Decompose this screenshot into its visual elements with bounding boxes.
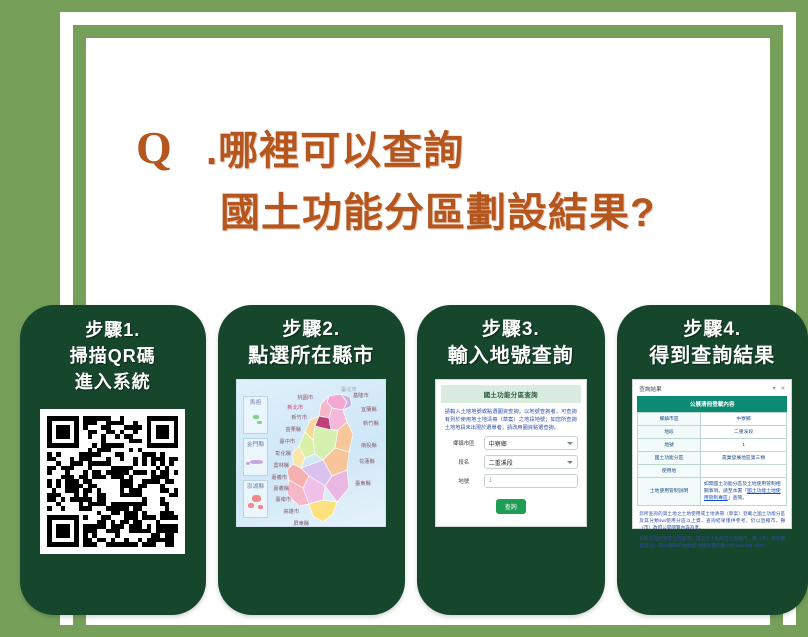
step-3-sub-1: 輸入地號查詢 (448, 343, 574, 369)
step-4-title: 步驟4. 得到查詢結果 (649, 317, 775, 369)
table-row: 國土功能分區 農業發展地區第三類 (638, 452, 787, 465)
form-description: 請輸入土地地號或點選圖資查詢。以地號查詢者，可查詢有列於使用地土地清冊（草案）之… (441, 403, 581, 436)
row-value: 農業發展地區第三類 (700, 452, 786, 465)
table-row-detail: 土地使用管制說明 如需國土功能分區及土地使用管制相關事項，請至本署「國土功能土地… (638, 478, 787, 506)
result-panel[interactable]: 查詢結果 ▾ ✕ 公展清冊登載內容 鄉鎮市區 中寮鄉 地段 二重溪段 (632, 379, 792, 529)
step-3-title: 步驟3. 輸入地號查詢 (448, 317, 574, 369)
step-3-title-line: 步驟3. (448, 317, 574, 343)
step-4-title-line: 步驟4. (649, 317, 775, 343)
step-card-1[interactable]: 步驟1. 掃描QR碼 進入系統 (20, 305, 206, 615)
qr-code[interactable] (40, 409, 185, 554)
result-panel-bar: 查詢結果 ▾ ✕ (637, 384, 787, 396)
map-label-taipei: 臺北市 (341, 385, 357, 393)
select-township-value: 中寮鄉 (489, 439, 507, 448)
map-label-taichung: 臺中市 (280, 437, 296, 445)
step-1-title-line: 步驟1. (70, 317, 156, 343)
map-label-chiayi-city: 嘉義市 (272, 473, 288, 481)
form-row-section: 段名 二重溪段 (444, 455, 578, 469)
result-table: 鄉鎮市區 中寮鄉 地段 二重溪段 地號 1 國土功能分區 農業發展地區第三類 (637, 412, 787, 506)
query-form[interactable]: 國土功能分區查詢 請輸入土地地號或點選圖資查詢。以地號查詢者，可查詢有列於使用地… (435, 379, 587, 527)
row-value: 1 (700, 439, 786, 452)
chevron-down-icon[interactable]: ▾ (773, 386, 776, 392)
map-label-pingtung: 屏東縣 (294, 519, 310, 527)
search-button[interactable]: 查詢 (496, 499, 526, 514)
step-1-sub-2: 進入系統 (70, 369, 156, 395)
chevron-down-icon (567, 442, 573, 445)
row-key: 國土功能分區 (638, 452, 701, 465)
table-row: 鄉鎮市區 中寮鄉 (638, 413, 787, 426)
result-note-1: 您所查詢的第土地之土地使用或土地清冊（草案）登載之國土功能分區及其分類świ使用… (639, 510, 785, 531)
step-1-sub-1: 掃描QR碼 (70, 343, 156, 369)
map-label-chiayi-county: 嘉義縣 (274, 484, 290, 492)
select-section[interactable]: 二重溪段 (484, 455, 578, 469)
label-section: 段名 (444, 458, 484, 466)
step-4-sub-1: 得到查詢結果 (649, 343, 775, 369)
form-row-township: 鄉鎮市區 中寮鄉 (444, 436, 578, 450)
taiwan-map[interactable]: 馬祖 金門縣 澎湖縣 (236, 379, 386, 527)
row-value: 中寮鄉 (700, 413, 786, 426)
step-cards: 步驟1. 掃描QR碼 進入系統 步驟2. 點選所在縣市 馬祖 金門縣 (0, 305, 808, 615)
row-key: 使用地 (638, 465, 701, 478)
step-2-title: 步驟2. 點選所在縣市 (248, 317, 374, 369)
map-label-tainan: 臺南市 (276, 495, 292, 503)
step-2-title-line: 步驟2. (248, 317, 374, 343)
step-card-3[interactable]: 步驟3. 輸入地號查詢 國土功能分區查詢 請輸入土地地號或點選圖資查詢。以地號查… (417, 305, 605, 615)
input-lot-number[interactable]: 1 (484, 474, 578, 488)
map-label-nantou: 南投縣 (361, 441, 377, 449)
row-value (700, 465, 786, 478)
detail-text-after: 」查閱。 (728, 496, 747, 501)
map-label-taitung: 臺東縣 (355, 479, 371, 487)
form-row-lot-number: 地號 1 (444, 474, 578, 488)
step-1-title: 步驟1. 掃描QR碼 進入系統 (70, 317, 156, 395)
select-township[interactable]: 中寮鄉 (484, 436, 578, 450)
label-township: 鄉鎮市區 (444, 439, 484, 447)
map-label-hsinchu-county: 新竹縣 (363, 419, 379, 427)
row-key: 地段 (638, 426, 701, 439)
map-label-yilan: 宜蘭縣 (361, 405, 377, 413)
result-notes: 您所查詢的第土地之土地使用或土地清冊（草案）登載之國土功能分區及其分類świ使用… (637, 506, 787, 553)
form-header: 國土功能分區查詢 (441, 385, 581, 403)
label-lot-number: 地號 (444, 477, 484, 485)
row-value: 二重溪段 (700, 426, 786, 439)
question-line-1: .哪裡可以查詢 (220, 120, 655, 182)
result-panel-title: 查詢結果 (639, 385, 661, 393)
map-label-xinbei: 新北市 (288, 403, 304, 411)
question-line-2: 國土功能分區劃設結果? (220, 182, 655, 244)
select-section-value: 二重溪段 (489, 458, 513, 467)
step-card-2[interactable]: 步驟2. 點選所在縣市 馬祖 金門縣 澎湖縣 (218, 305, 406, 615)
input-lot-number-value: 1 (489, 478, 492, 484)
map-label-taoyuan: 桃園市 (298, 393, 314, 401)
table-row: 地段 二重溪段 (638, 426, 787, 439)
row-key: 鄉鎮市區 (638, 413, 701, 426)
question-heading: Q .哪裡可以查詢 國土功能分區劃設結果? (0, 120, 808, 244)
map-label-kaohsiung: 高雄市 (284, 507, 300, 515)
row-value-detail: 如需國土功能分區及土地使用管制相關事項，請至本署「國土功能土地使用管制專區」查閱… (700, 478, 786, 506)
close-icon[interactable]: ✕ (781, 386, 786, 392)
map-label-hsinchu-city: 新竹市 (292, 413, 308, 421)
row-key: 地號 (638, 439, 701, 452)
step-2-sub-1: 點選所在縣市 (248, 343, 374, 369)
step-card-4[interactable]: 步驟4. 得到查詢結果 查詢結果 ▾ ✕ 公展清冊登載內容 鄉鎮市區 中寮鄉 (617, 305, 808, 615)
table-row: 使用地 (638, 465, 787, 478)
map-label-changhua: 彰化縣 (276, 449, 292, 457)
table-row: 地號 1 (638, 439, 787, 452)
map-label-hualien: 花蓮縣 (359, 457, 375, 465)
map-label-yunlin: 雲林縣 (274, 461, 290, 469)
taiwan-island (237, 380, 386, 527)
map-label-miaoli: 苗栗縣 (286, 425, 302, 433)
result-note-2: 如對查詢結果有任何疑問，請逕洽土地所在之直轄市、縣（市）政府都發窗口；或féd縣… (639, 535, 785, 549)
row-key: 土地使用管制說明 (638, 478, 701, 506)
result-table-title: 公展清冊登載內容 (637, 396, 787, 412)
chevron-down-icon (567, 461, 573, 464)
